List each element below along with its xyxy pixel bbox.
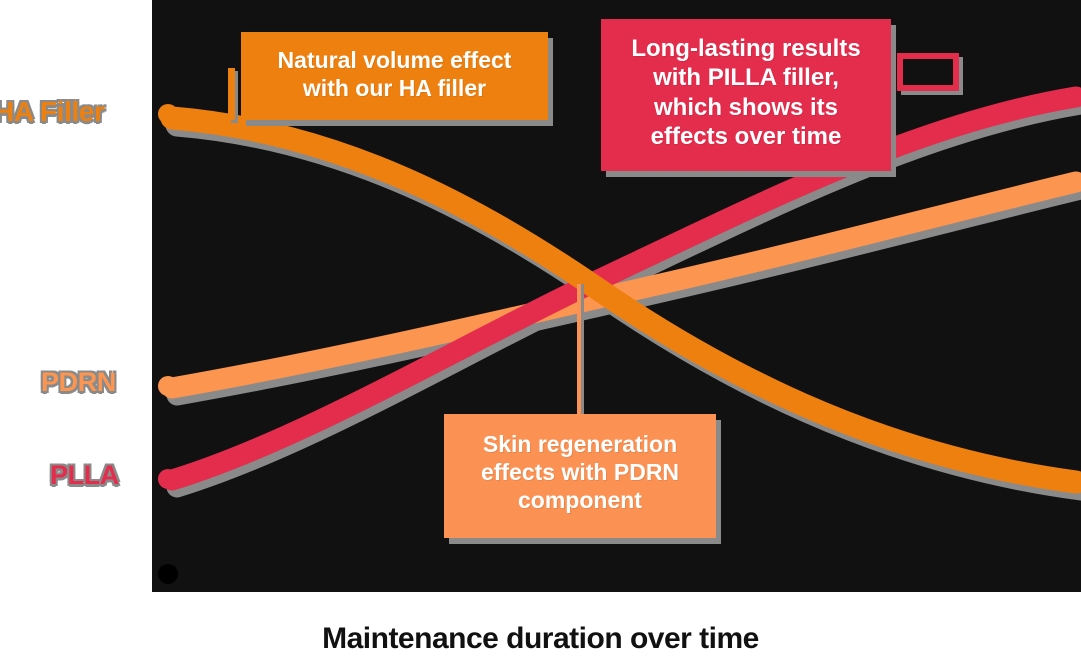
x-axis-label: Maintenance duration over time <box>0 624 1081 661</box>
callout-pdrn-line1: Skin regeneration <box>458 430 702 458</box>
callout-ha-filler-line1: Natural volume effect <box>251 46 538 74</box>
callout-pdrn-line3: component <box>458 486 702 514</box>
callout-ha-filler: Natural volume effect with our HA filler <box>241 32 548 120</box>
series-label-pdrn: PDRN <box>41 369 116 396</box>
callout-plla-line2: with PILLA filler, <box>613 63 879 92</box>
callout-pdrn: Skin regeneration effects with PDRN comp… <box>444 414 716 538</box>
callout-ha-filler-line2: with our HA filler <box>251 74 538 102</box>
callout-connector-plla <box>897 53 959 91</box>
origin-marker <box>158 564 178 584</box>
plla-start-marker <box>158 469 178 489</box>
series-label-plla: PLLA <box>50 462 119 489</box>
callout-plla-line1: Long-lasting results <box>613 34 879 63</box>
series-label-ha-filler: HA Filler <box>0 98 105 126</box>
callout-pdrn-line2: effects with PDRN <box>458 458 702 486</box>
chart-canvas: HA Filler PDRN PLLA Natural volume effec… <box>0 0 1081 661</box>
pdrn-curve <box>172 182 1076 388</box>
callout-connector-pdrn <box>577 284 581 416</box>
pdrn-start-marker <box>158 376 178 396</box>
callout-plla: Long-lasting results with PILLA filler, … <box>601 19 891 171</box>
callout-connector-ha-filler <box>228 68 235 120</box>
callout-plla-line4: effects over time <box>613 122 879 151</box>
callout-plla-line3: which shows its <box>613 93 879 122</box>
ha-filler-start-marker <box>158 104 178 124</box>
